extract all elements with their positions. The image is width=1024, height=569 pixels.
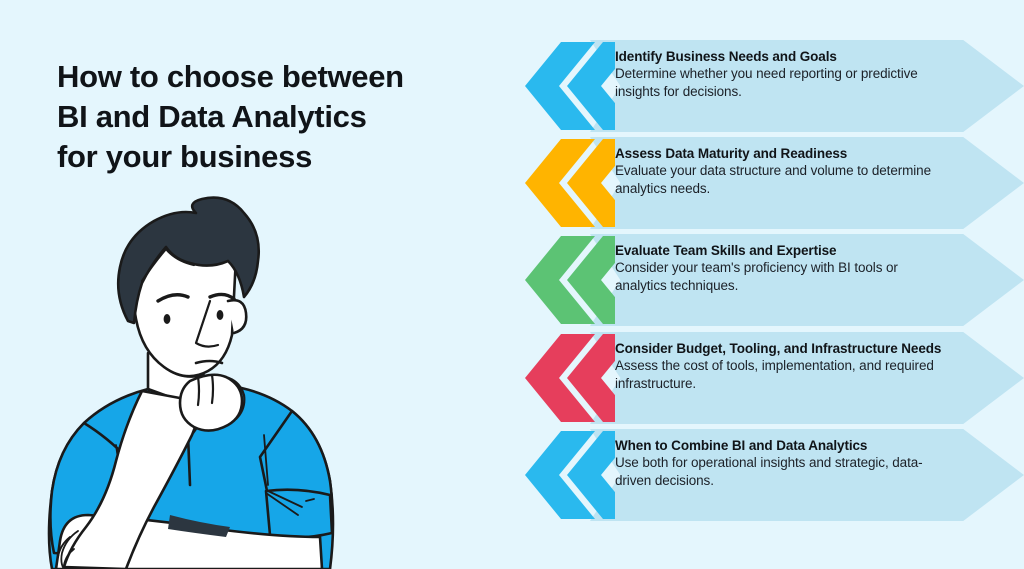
step-heading-5: When to Combine BI and Data Analytics bbox=[615, 437, 945, 454]
step-description-1: Determine whether you need reporting or … bbox=[615, 65, 945, 100]
left-column: How to choose between BI and Data Analyt… bbox=[0, 0, 505, 569]
page-title: How to choose between BI and Data Analyt… bbox=[57, 57, 487, 177]
step-description-5: Use both for operational insights and st… bbox=[615, 454, 945, 489]
steps-list: Identify Business Needs and Goals Determ… bbox=[505, 0, 1024, 569]
double-chevron-left-icon bbox=[525, 431, 615, 519]
step-heading-1: Identify Business Needs and Goals bbox=[615, 48, 945, 65]
step-text-2: Assess Data Maturity and Readiness Evalu… bbox=[615, 145, 945, 197]
thinking-man-illustration bbox=[30, 185, 380, 569]
step-text-4: Consider Budget, Tooling, and Infrastruc… bbox=[615, 340, 945, 392]
double-chevron-left-icon bbox=[525, 334, 615, 422]
step-card-3[interactable]: Evaluate Team Skills and Expertise Consi… bbox=[505, 234, 1024, 326]
page-title-line-3: for your business bbox=[57, 137, 487, 177]
step-card-2[interactable]: Assess Data Maturity and Readiness Evalu… bbox=[505, 137, 1024, 229]
page-title-line-2: BI and Data Analytics bbox=[57, 97, 487, 137]
step-text-5: When to Combine BI and Data Analytics Us… bbox=[615, 437, 945, 489]
step-card-4[interactable]: Consider Budget, Tooling, and Infrastruc… bbox=[505, 332, 1024, 424]
step-heading-3: Evaluate Team Skills and Expertise bbox=[615, 242, 945, 259]
double-chevron-left-icon bbox=[525, 236, 615, 324]
step-description-3: Consider your team's proficiency with BI… bbox=[615, 259, 945, 294]
step-text-1: Identify Business Needs and Goals Determ… bbox=[615, 48, 945, 100]
step-heading-4: Consider Budget, Tooling, and Infrastruc… bbox=[615, 340, 945, 357]
double-chevron-left-icon bbox=[525, 42, 615, 130]
page-title-line-1: How to choose between bbox=[57, 57, 487, 97]
step-description-4: Assess the cost of tools, implementation… bbox=[615, 357, 945, 392]
step-text-3: Evaluate Team Skills and Expertise Consi… bbox=[615, 242, 945, 294]
step-heading-2: Assess Data Maturity and Readiness bbox=[615, 145, 945, 162]
step-description-2: Evaluate your data structure and volume … bbox=[615, 162, 945, 197]
step-card-1[interactable]: Identify Business Needs and Goals Determ… bbox=[505, 40, 1024, 132]
double-chevron-left-icon bbox=[525, 139, 615, 227]
step-card-5[interactable]: When to Combine BI and Data Analytics Us… bbox=[505, 429, 1024, 521]
